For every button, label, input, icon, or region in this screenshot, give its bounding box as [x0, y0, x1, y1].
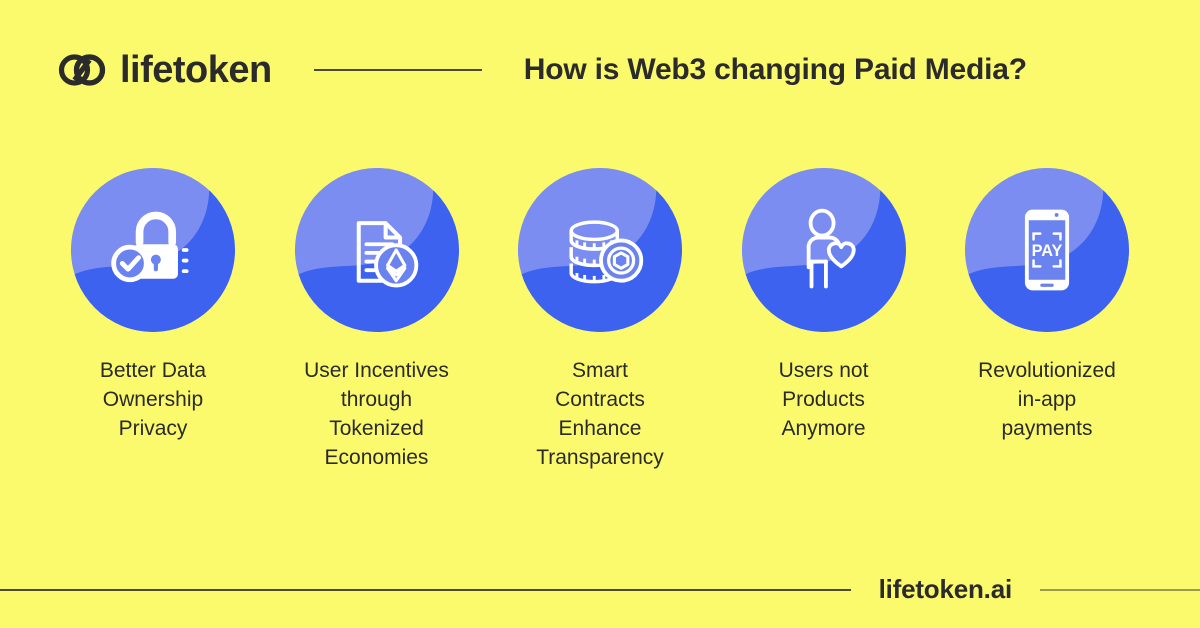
brand-name: lifetoken [120, 51, 272, 89]
lifetoken-logo-icon [58, 46, 106, 94]
icon-badge [518, 168, 682, 332]
benefit-card: Better Data Ownership Privacy [58, 168, 248, 443]
icon-badge: PAY [965, 168, 1129, 332]
document-ethereum-icon [329, 202, 425, 298]
benefit-card: PAY Revolutionized in-app payments [952, 168, 1142, 443]
icon-badge [71, 168, 235, 332]
benefit-card-row: Better Data Ownership Privacy User Incen… [58, 168, 1142, 472]
benefit-caption: Smart Contracts Enhance Transparency [536, 356, 664, 472]
benefit-caption: Better Data Ownership Privacy [100, 356, 206, 443]
brand-lockup: lifetoken [58, 46, 482, 94]
footer: lifetoken.ai [0, 550, 1200, 628]
lock-shield-check-icon [105, 202, 201, 298]
benefit-card: Users not Products Anymore [729, 168, 919, 443]
footer-divider-left [0, 589, 851, 591]
page-title: How is Web3 changing Paid Media? [524, 53, 1027, 87]
benefit-card: User Incentives through Tokenized Econom… [282, 168, 472, 472]
benefit-card: Smart Contracts Enhance Transparency [505, 168, 695, 472]
benefit-caption: Revolutionized in-app payments [978, 356, 1116, 443]
header: lifetoken How is Web3 changing Paid Medi… [0, 0, 1200, 140]
benefit-caption: User Incentives through Tokenized Econom… [304, 356, 449, 472]
benefit-caption: Users not Products Anymore [779, 356, 869, 443]
icon-badge [295, 168, 459, 332]
smartphone-pay-icon: PAY [999, 202, 1095, 298]
icon-badge [742, 168, 906, 332]
footer-divider-right [1040, 589, 1200, 591]
phone-screen-label: PAY [1032, 242, 1063, 260]
person-heart-icon [776, 202, 872, 298]
footer-website-url[interactable]: lifetoken.ai [851, 574, 1040, 605]
header-divider [314, 69, 482, 71]
coin-stack-icon [552, 202, 648, 298]
